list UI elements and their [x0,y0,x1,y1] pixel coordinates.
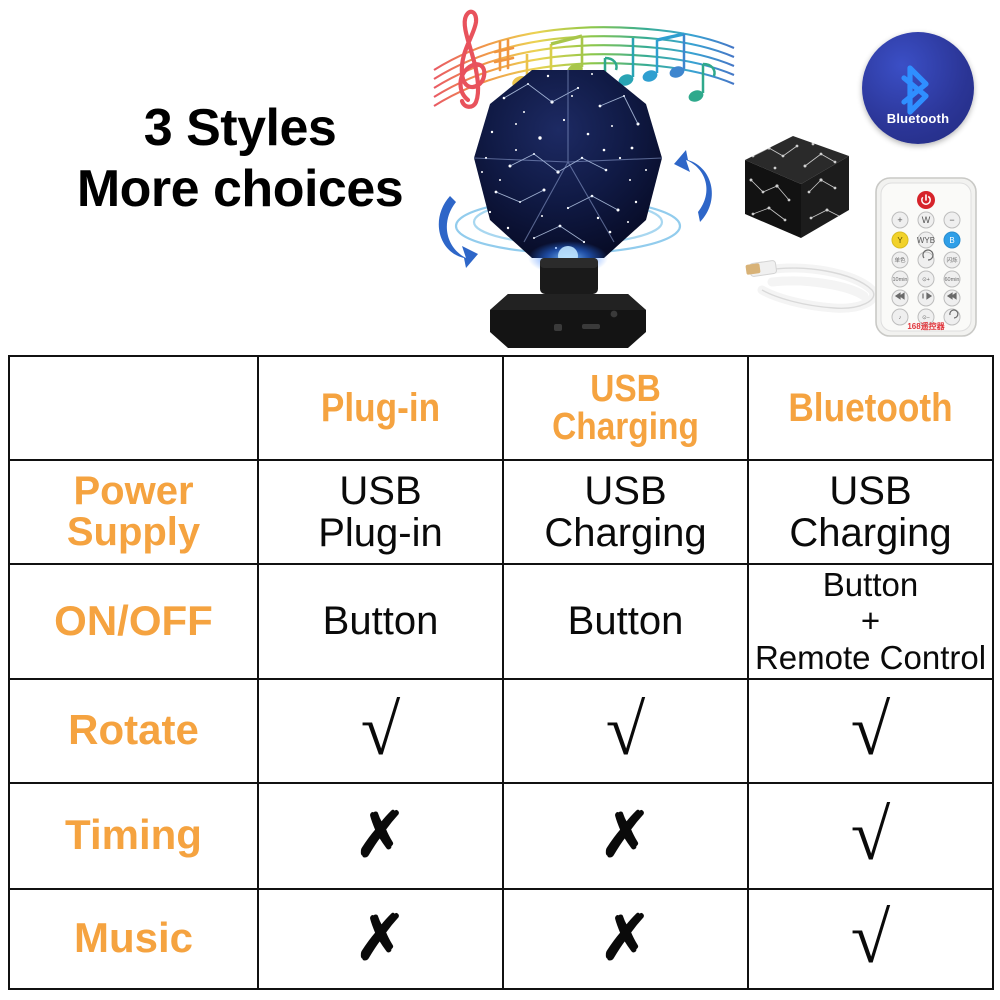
cell-on-off-bluetooth: Button + Remote Control [748,564,993,679]
row-label-on-off: ON/OFF [9,564,258,679]
cross-icon: ✗ [263,911,498,967]
cell-on-off-bluetooth-line-2: Remote Control [753,640,988,676]
table-corner-cell [9,356,258,460]
svg-text:⊙−: ⊙− [922,315,930,321]
comparison-table: Plug-in USB Charging Bluetooth Power Sup… [8,355,994,990]
row-label-rotate: Rotate [9,679,258,783]
bluetooth-badge: Bluetooth [862,32,974,144]
row-label-timing-text: Timing [14,814,253,857]
row-label-power-supply-line-2: Supply [14,512,253,553]
constellation-gift-box [735,122,857,248]
cell-music-bluetooth: √ [748,889,993,989]
column-header-plug-in: Plug-in [258,356,503,460]
cell-rotate-bluetooth: √ [748,679,993,783]
bluetooth-badge-label: Bluetooth [862,111,974,126]
cell-timing-bluetooth: √ [748,783,993,889]
table-row-rotate: Rotate √ √ √ [9,679,993,783]
cell-on-off-plug-in-text: Button [263,600,498,642]
page-title: 3 Styles More choices [40,98,440,221]
column-header-bluetooth-label: Bluetooth [767,388,974,428]
row-label-power-supply: Power Supply [9,460,258,564]
row-label-power-supply-line-1: Power [14,471,253,512]
cell-rotate-plug-in: √ [258,679,503,783]
svg-text:10min: 10min [893,277,908,283]
row-label-rotate-text: Rotate [14,709,253,752]
headline-line-1: 3 Styles [40,98,440,159]
svg-text:♪: ♪ [899,315,902,321]
check-icon: √ [753,803,988,868]
row-label-music-text: Music [14,917,253,960]
table-row-music: Music ✗ ✗ √ [9,889,993,989]
star-projector-lamp [432,62,722,357]
cell-on-off-bluetooth-line-1: Button [753,567,988,603]
infographic-page: 3 Styles More choices [0,0,1000,1000]
cell-power-supply-plug-in-line-1: USB [263,470,498,512]
column-header-bluetooth: Bluetooth [748,356,993,460]
cell-music-usb-charging: ✗ [503,889,748,989]
svg-text:W: W [922,215,931,225]
svg-text:⊙+: ⊙+ [922,277,930,283]
svg-text:+: + [897,215,902,225]
svg-text:B: B [949,236,954,245]
table-row-on-off: ON/OFF Button Button Button + Remote Con… [9,564,993,679]
column-header-plug-in-label: Plug-in [277,388,484,428]
cell-power-supply-bluetooth-line-1: USB [753,470,988,512]
check-icon: √ [263,698,498,763]
svg-text:Y: Y [897,236,903,245]
table-header-row: Plug-in USB Charging Bluetooth [9,356,993,460]
cell-music-plug-in: ✗ [258,889,503,989]
check-icon: √ [753,906,988,971]
cell-power-supply-plug-in: USB Plug-in [258,460,503,564]
cell-power-supply-usb-charging: USB Charging [503,460,748,564]
check-icon: √ [753,698,988,763]
cross-icon: ✗ [263,808,498,864]
svg-text:60min: 60min [945,277,960,283]
row-label-on-off-text: ON/OFF [14,600,253,643]
cell-power-supply-usb-charging-line-2: Charging [508,512,743,554]
svg-text:闪烁: 闪烁 [946,256,958,264]
cross-icon: ✗ [508,808,743,864]
svg-text:−: − [949,215,954,225]
cell-on-off-usb-charging-text: Button [508,600,743,642]
check-icon: √ [508,698,743,763]
table-row-timing: Timing ✗ ✗ √ [9,783,993,889]
cell-power-supply-bluetooth: USB Charging [748,460,993,564]
table-row-power-supply: Power Supply USB Plug-in USB Charging US… [9,460,993,564]
cell-rotate-usb-charging: √ [503,679,748,783]
svg-text:WYB: WYB [917,236,935,245]
cross-icon: ✗ [508,911,743,967]
cell-power-supply-usb-charging-line-1: USB [508,470,743,512]
cell-on-off-usb-charging: Button [503,564,748,679]
cell-timing-plug-in: ✗ [258,783,503,889]
cell-on-off-plug-in: Button [258,564,503,679]
row-label-music: Music [9,889,258,989]
row-label-timing: Timing [9,783,258,889]
cell-power-supply-plug-in-line-2: Plug-in [263,512,498,554]
cell-on-off-bluetooth-plus: + [753,603,988,639]
cell-timing-usb-charging: ✗ [503,783,748,889]
column-header-usb-charging-line-2: Charging [522,408,729,446]
svg-text:168遥控器: 168遥控器 [907,321,945,331]
column-header-usb-charging-line-1: USB [522,370,729,408]
remote-control: +W− Y WYB B 单色闪烁 [872,176,980,338]
hero-section: 3 Styles More choices [0,0,1000,355]
headline-line-2: More choices [40,159,440,220]
cell-power-supply-bluetooth-line-2: Charging [753,512,988,554]
svg-text:单色: 单色 [894,256,906,264]
usb-cable [742,246,882,328]
column-header-usb-charging: USB Charging [503,356,748,460]
